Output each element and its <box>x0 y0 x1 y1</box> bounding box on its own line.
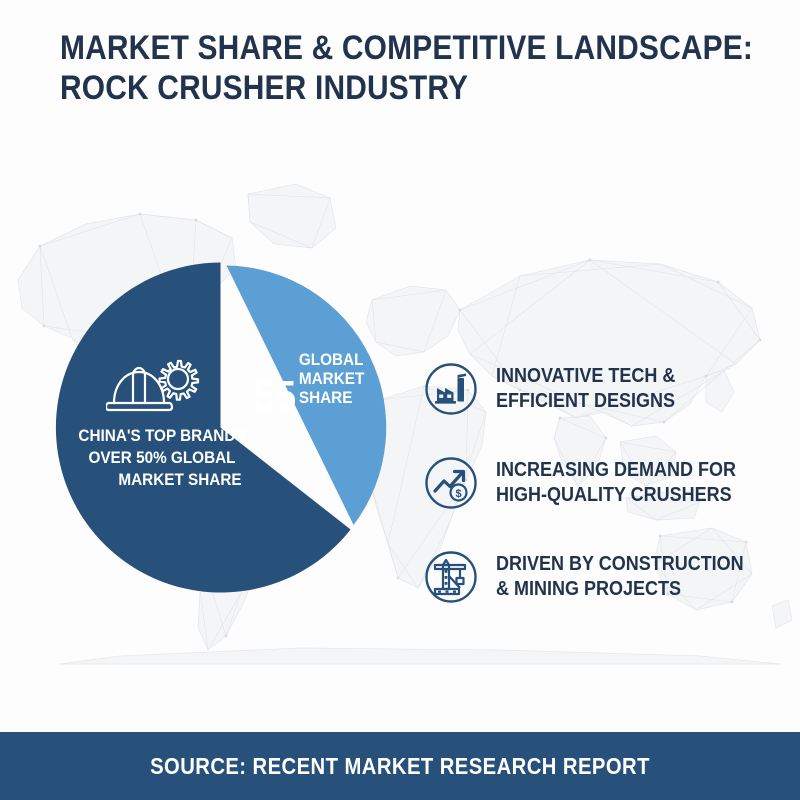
infographic-page: MARKET SHARE & COMPETITIVE LANDSCAPE: RO… <box>0 0 800 800</box>
pie-label-line-1: CHINA'S TOP BRANDS <box>78 426 245 445</box>
page-title: MARKET SHARE & COMPETITIVE LANDSCAPE: RO… <box>60 28 760 108</box>
svg-text:$: $ <box>455 488 461 500</box>
factory-icon <box>424 362 478 416</box>
title-line-1: MARKET SHARE & COMPETITIVE LANDSCAPE: <box>60 28 676 68</box>
pie-label-line-3: MARKET SHARE <box>72 469 252 491</box>
growth-chart-dollar-icon: $ <box>424 456 478 510</box>
pie-chart: 55GLOBALMARKET SHARE CHINA'S TOP BRANDS … <box>48 255 393 600</box>
list-item-text: INCREASING DEMAND FOR HIGH-QUALITY CRUSH… <box>496 458 736 508</box>
list-item[interactable]: $ INCREASING DEMAND FOR HIGH-QUALITY CRU… <box>424 456 744 510</box>
hard-hat-gear-icon <box>106 355 200 417</box>
source-text: SOURCE: RECENT MARKET RESEARCH REPORT <box>150 753 650 780</box>
pie-label-china-brands: CHINA'S TOP BRANDS OVER 50% GLOBAL MARKE… <box>72 425 252 491</box>
pie-label-line-2: OVER 50% GLOBAL <box>88 448 235 467</box>
construction-crane-icon <box>424 550 478 604</box>
pie-label-global-share: 55GLOBALMARKET SHARE <box>253 350 379 417</box>
pie-value-55: 55 <box>253 377 295 417</box>
pie-sublabel-global: GLOBALMARKET SHARE <box>299 350 369 407</box>
list-item-text: DRIVEN BY CONSTRUCTION & MINING PROJECTS <box>496 552 744 602</box>
list-item[interactable]: DRIVEN BY CONSTRUCTION & MINING PROJECTS <box>424 550 744 604</box>
list-item[interactable]: INNOVATIVE TECH & EFFICIENT DESIGNS <box>424 362 744 416</box>
list-item-text: INNOVATIVE TECH & EFFICIENT DESIGNS <box>496 364 675 414</box>
source-footer-bar: SOURCE: RECENT MARKET RESEARCH REPORT <box>0 732 800 800</box>
title-line-2: ROCK CRUSHER INDUSTRY <box>60 68 676 108</box>
key-points-list: INNOVATIVE TECH & EFFICIENT DESIGNS $ IN… <box>424 362 744 644</box>
